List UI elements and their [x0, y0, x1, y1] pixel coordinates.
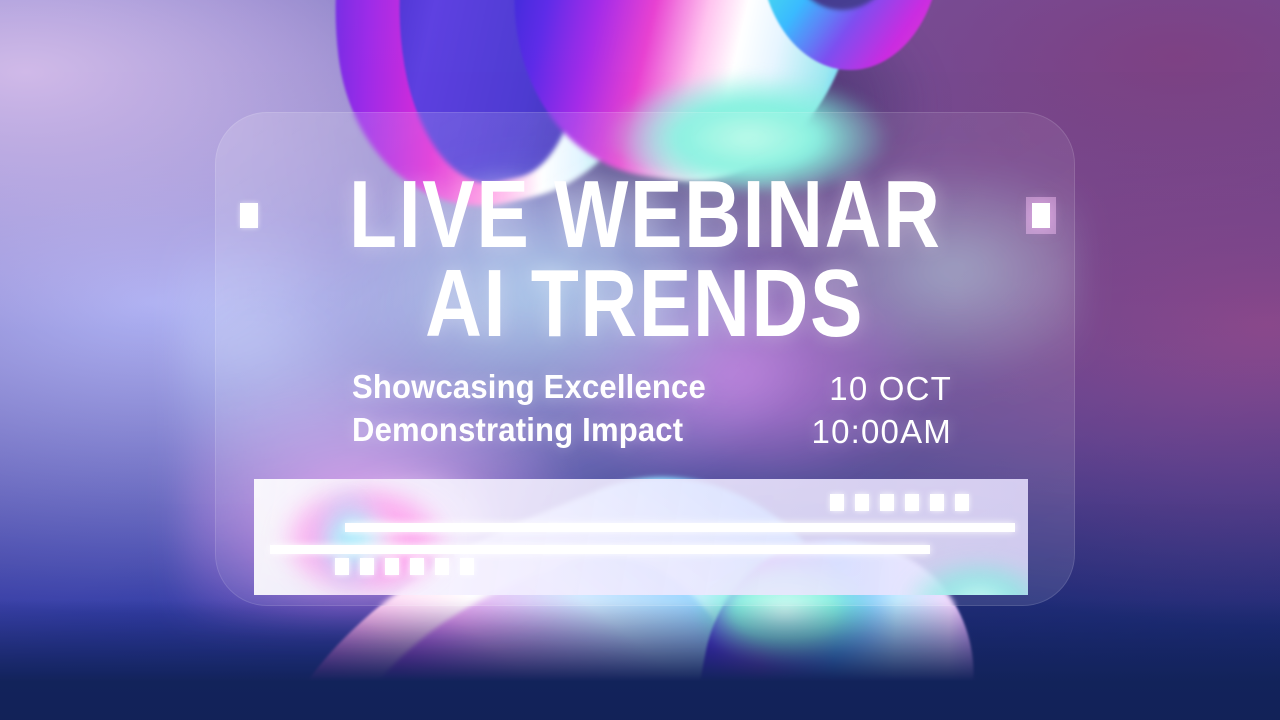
- dot-marker: [905, 494, 919, 511]
- event-date: 10 OCT: [829, 372, 952, 407]
- poster-canvas: LIVE WEBINAR AI TRENDS Showcasing Excell…: [0, 0, 1280, 720]
- dot-marker: [930, 494, 944, 511]
- schedule-block: 10 OCT 10:00AM: [812, 370, 952, 450]
- dot-marker: [385, 558, 399, 575]
- subtitle-line-1: Showcasing Excellence: [352, 370, 706, 405]
- dot-marker: [410, 558, 424, 575]
- dot-marker: [360, 558, 374, 575]
- square-marker-left-icon: [240, 203, 258, 228]
- divider-bar-upper: [345, 523, 1015, 532]
- dot-marker: [830, 494, 844, 511]
- headline-row-secondary: AI TRENDS: [215, 252, 1075, 356]
- dot-marker: [460, 558, 474, 575]
- bottom-panel: [254, 479, 1028, 595]
- dot-group-bottom-left: [335, 558, 474, 575]
- dot-group-top-right: [830, 494, 969, 511]
- subtitle-block: Showcasing Excellence Demonstrating Impa…: [352, 370, 729, 448]
- dot-marker: [335, 558, 349, 575]
- dot-marker: [880, 494, 894, 511]
- panel-cyan-glow-left: [294, 479, 404, 595]
- dot-marker: [855, 494, 869, 511]
- event-time: 10:00AM: [812, 415, 952, 450]
- dot-marker: [955, 494, 969, 511]
- square-marker-right-icon: [1032, 203, 1050, 228]
- title-line-2: AI TRENDS: [425, 262, 864, 346]
- title-line-1: LIVE WEBINAR: [349, 173, 942, 257]
- info-row: Showcasing Excellence Demonstrating Impa…: [352, 370, 952, 458]
- dot-marker: [435, 558, 449, 575]
- subtitle-line-2: Demonstrating Impact: [352, 413, 706, 448]
- divider-bar-lower: [270, 545, 930, 554]
